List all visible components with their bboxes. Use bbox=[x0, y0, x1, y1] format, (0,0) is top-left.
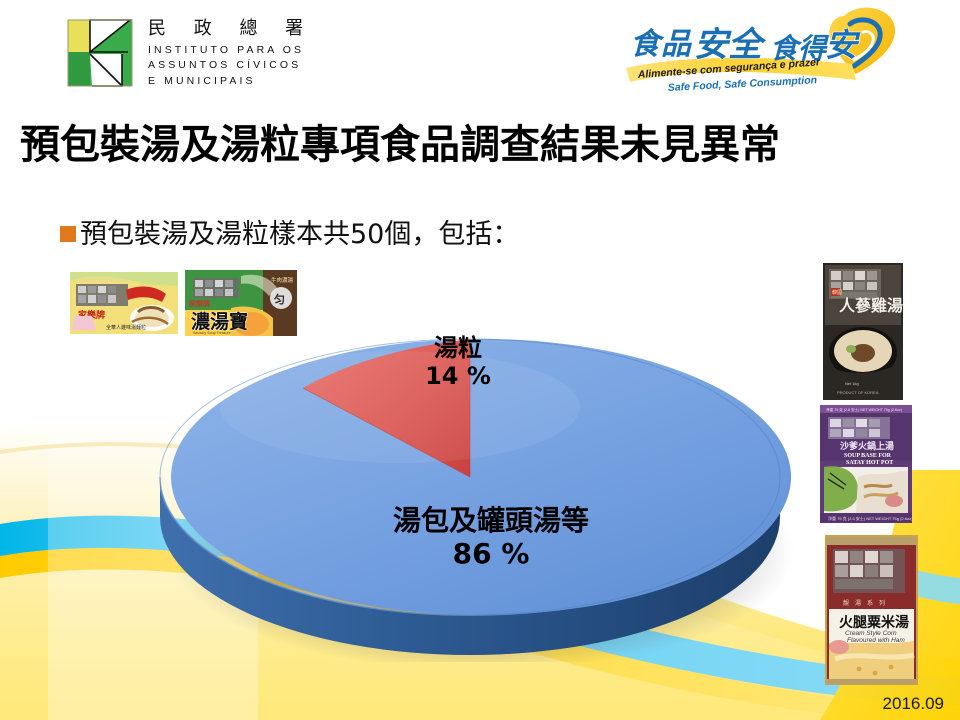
svg-text:火腿粟米湯: 火腿粟米湯 bbox=[839, 614, 909, 631]
pie-chart: 湯粒 14 % 湯包及罐頭湯等 86 % bbox=[150, 312, 810, 662]
pie-label-soup-pack-canned: 湯包及罐頭湯等 86 % bbox=[346, 504, 636, 570]
iacm-portuguese-line-3: E MUNICIPAIS bbox=[148, 76, 314, 87]
product-photo-cream-corn-ham-soup: 靚湯系列 火腿粟米湯 Cream Style Corn Flavoured wi… bbox=[825, 535, 918, 685]
pie-label-soup-granule-name: 湯粒 bbox=[388, 334, 528, 362]
product-photo-4-art: 沙爹火鍋上湯 SOUP BASE FOR SATAY HOT POT 淨重 75… bbox=[820, 405, 912, 523]
svg-text:食品: 食品 bbox=[630, 27, 693, 62]
svg-text:PRODUCT OF KOREA: PRODUCT OF KOREA bbox=[837, 390, 879, 395]
svg-text:SATAY HOT POT: SATAY HOT POT bbox=[846, 460, 893, 466]
iacm-chinese-name: 民 政 總 署 bbox=[148, 20, 314, 38]
bullet-text: 預包裝湯及湯粒樣本共50個，包括： bbox=[80, 212, 519, 251]
bullet-line: 預包裝湯及湯粒樣本共50個，包括： bbox=[60, 212, 519, 251]
iacm-logo-text: 民 政 總 署 INSTITUTO PARA OS ASSUNTOS CÍVIC… bbox=[148, 20, 314, 87]
svg-text:Cream Style Corn: Cream Style Corn bbox=[845, 630, 897, 637]
svg-text:沙爹火鍋上湯: 沙爹火鍋上湯 bbox=[840, 440, 894, 452]
svg-text:淨重 75 克 (2.6 安士) NET WEIGHT 75: 淨重 75 克 (2.6 安士) NET WEIGHT 75g (2.6oz) bbox=[826, 407, 902, 412]
product-photo-3-art: 韓國 人蔘雞湯 Net 1kg PRODUCT OF KOREA bbox=[823, 263, 903, 400]
product-photo-satay-hotpot-soup-base: 沙爹火鍋上湯 SOUP BASE FOR SATAY HOT POT 淨重 75… bbox=[820, 405, 912, 523]
svg-text:全華人雞味湯麵粒: 全華人雞味湯麵粒 bbox=[106, 324, 146, 331]
svg-text:Net 1kg: Net 1kg bbox=[845, 381, 859, 386]
svg-text:匀: 匀 bbox=[274, 292, 285, 306]
iacm-logo: 民 政 總 署 INSTITUTO PARA OS ASSUNTOS CÍVIC… bbox=[66, 18, 314, 88]
page-title: 預包裝湯及湯粒專項食品調查結果未見異常 bbox=[20, 122, 950, 168]
svg-text:淨重 75 克 (2.6 安士) NET WEIGHT 75: 淨重 75 克 (2.6 安士) NET WEIGHT 75g (2.6oz) bbox=[828, 515, 912, 521]
product-photo-ginseng-chicken-soup: 韓國 人蔘雞湯 Net 1kg PRODUCT OF KOREA bbox=[823, 263, 903, 400]
svg-text:安全: 安全 bbox=[694, 25, 767, 65]
svg-text:韓國: 韓國 bbox=[832, 289, 842, 296]
product-photo-5-art: 靚湯系列 火腿粟米湯 Cream Style Corn Flavoured wi… bbox=[825, 535, 918, 685]
svg-text:牛肉濃湯: 牛肉濃湯 bbox=[271, 276, 294, 284]
food-safety-logo-svg: 食品 安全 食得 安 Alimente-se com segurança e p… bbox=[620, 6, 910, 98]
svg-text:安: 安 bbox=[825, 26, 861, 64]
pie-label-soup-granule-value: 14 % bbox=[388, 362, 528, 390]
svg-text:靚湯系列: 靚湯系列 bbox=[843, 599, 891, 607]
iacm-portuguese-line-2: ASSUNTOS CÍVICOS bbox=[148, 60, 314, 71]
svg-text:SOUP BASE FOR: SOUP BASE FOR bbox=[844, 453, 892, 459]
svg-text:家樂牌: 家樂牌 bbox=[189, 299, 210, 308]
pie-label-soup-pack-canned-value: 86 % bbox=[346, 537, 636, 570]
food-safety-logo: 食品 安全 食得 安 Alimente-se com segurança e p… bbox=[620, 6, 910, 98]
slide-date: 2016.09 bbox=[883, 694, 944, 714]
slide-canvas: 民 政 總 署 INSTITUTO PARA OS ASSUNTOS CÍVIC… bbox=[0, 0, 960, 720]
iacm-logo-mark bbox=[66, 18, 134, 88]
svg-text:人蔘雞湯: 人蔘雞湯 bbox=[839, 296, 903, 315]
svg-text:Flavoured with Ham: Flavoured with Ham bbox=[847, 637, 905, 644]
square-bullet-icon bbox=[60, 226, 76, 242]
iacm-portuguese-line-1: INSTITUTO PARA OS bbox=[148, 45, 314, 56]
pie-label-soup-granule: 湯粒 14 % bbox=[388, 334, 528, 391]
iacm-mark-svg bbox=[66, 18, 134, 88]
pie-label-soup-pack-canned-name: 湯包及罐頭湯等 bbox=[346, 504, 636, 537]
